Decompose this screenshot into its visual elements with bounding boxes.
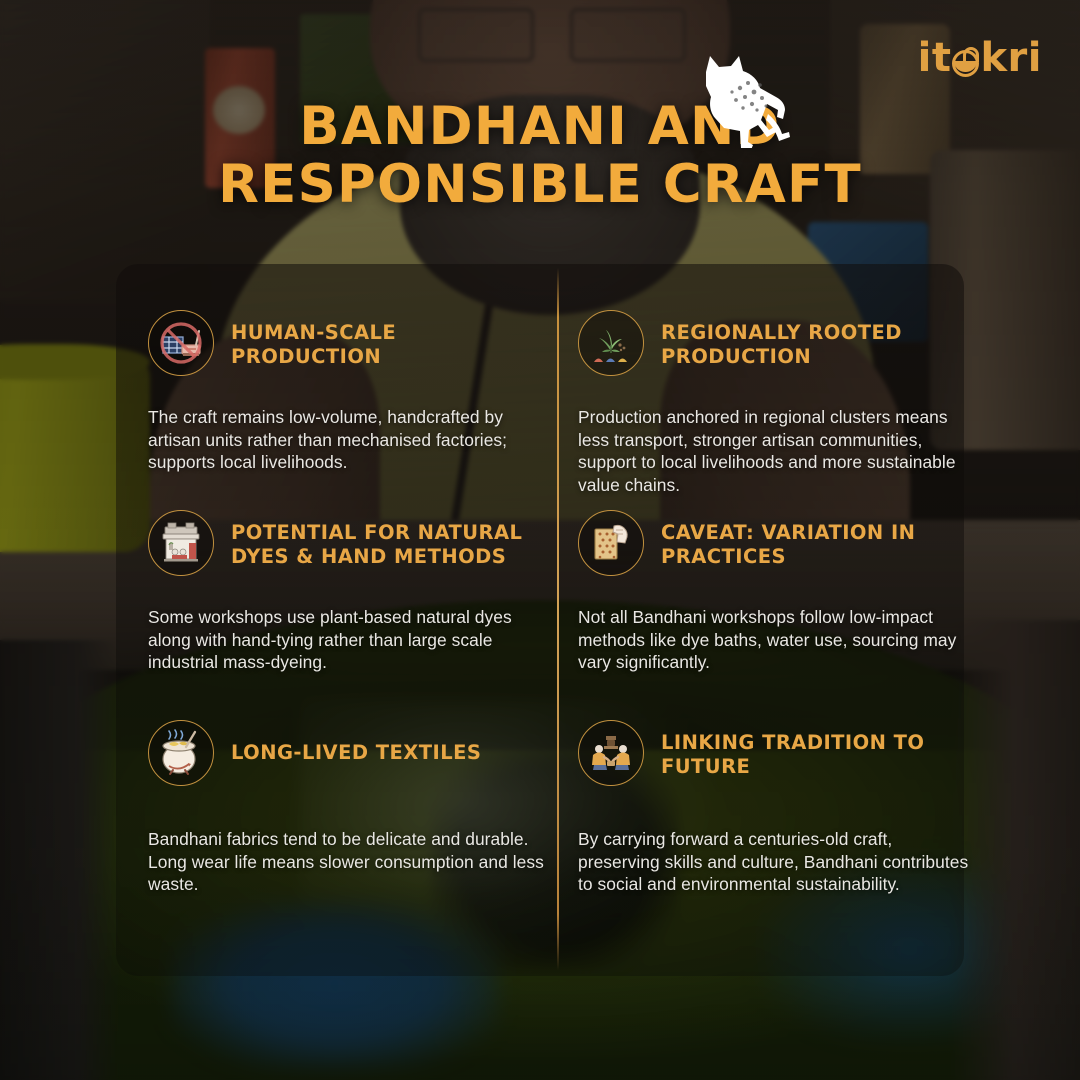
card-caveat-variation-in-practices: CAVEAT: VARIATION IN PRACTICES Not all B… [578,510,978,674]
card-header: CAVEAT: VARIATION IN PRACTICES [578,510,978,576]
card-body: Production anchored in regional clusters… [578,406,978,497]
card-title: HUMAN-SCALE PRODUCTION [231,310,548,369]
card-body: Bandhani fabrics tend to be delicate and… [148,828,548,896]
brand-logo[interactable]: it kri [918,38,1042,78]
card-body: Not all Bandhani workshops follow low-im… [578,606,978,674]
card-body: The craft remains low-volume, handcrafte… [148,406,548,474]
card-linking-tradition-to-future: LINKING TRADITION TO FUTURE By carrying … [578,720,978,896]
seedling-dye-powders-icon [578,310,644,376]
card-header: HUMAN-SCALE PRODUCTION [148,310,548,376]
card-title: CAVEAT: VARIATION IN PRACTICES [661,510,978,569]
card-title: REGIONALLY ROOTED PRODUCTION [661,310,978,369]
card-human-scale-production: HUMAN-SCALE PRODUCTION The craft remains… [148,310,548,474]
card-long-lived-textiles: LONG-LIVED TEXTILES Bandhani fabrics ten… [148,720,548,896]
steaming-dye-pot-icon [148,720,214,786]
card-title: LINKING TRADITION TO FUTURE [661,720,978,779]
brand-logo-text-it: it [918,38,952,78]
card-header: LINKING TRADITION TO FUTURE [578,720,978,786]
cards-grid: HUMAN-SCALE PRODUCTION The craft remains… [116,264,964,976]
card-header: POTENTIAL FOR NATURAL DYES & HAND METHOD… [148,510,548,576]
card-header: REGIONALLY ROOTED PRODUCTION [578,310,978,376]
page-title: BANDHANI AND RESPONSIBLE CRAFT [0,98,1080,214]
brand-logo-text-kri: kri [980,38,1042,78]
card-body: By carrying forward a centuries-old craf… [578,828,978,896]
card-regionally-rooted-production: REGIONALLY ROOTED PRODUCTION Production … [578,310,978,497]
card-body: Some workshops use plant-based natural d… [148,606,548,674]
card-title: LONG-LIVED TEXTILES [231,720,481,765]
infographic-content: it kri BANDHANI AND RESPONSIBLE CRAFT [0,0,1080,1080]
basket-icon [952,50,979,77]
hand-holding-fabric-swatch-icon [578,510,644,576]
card-header: LONG-LIVED TEXTILES [148,720,548,786]
no-factory-icon [148,310,214,376]
workshop-building-icon [148,510,214,576]
cat-illustration-icon [688,52,798,148]
card-natural-dyes-hand-methods: POTENTIAL FOR NATURAL DYES & HAND METHOD… [148,510,548,674]
card-title: POTENTIAL FOR NATURAL DYES & HAND METHOD… [231,510,548,569]
page-title-line-1: BANDHANI AND [140,98,940,156]
two-artisans-icon [578,720,644,786]
page-title-line-2: RESPONSIBLE CRAFT [140,156,940,214]
